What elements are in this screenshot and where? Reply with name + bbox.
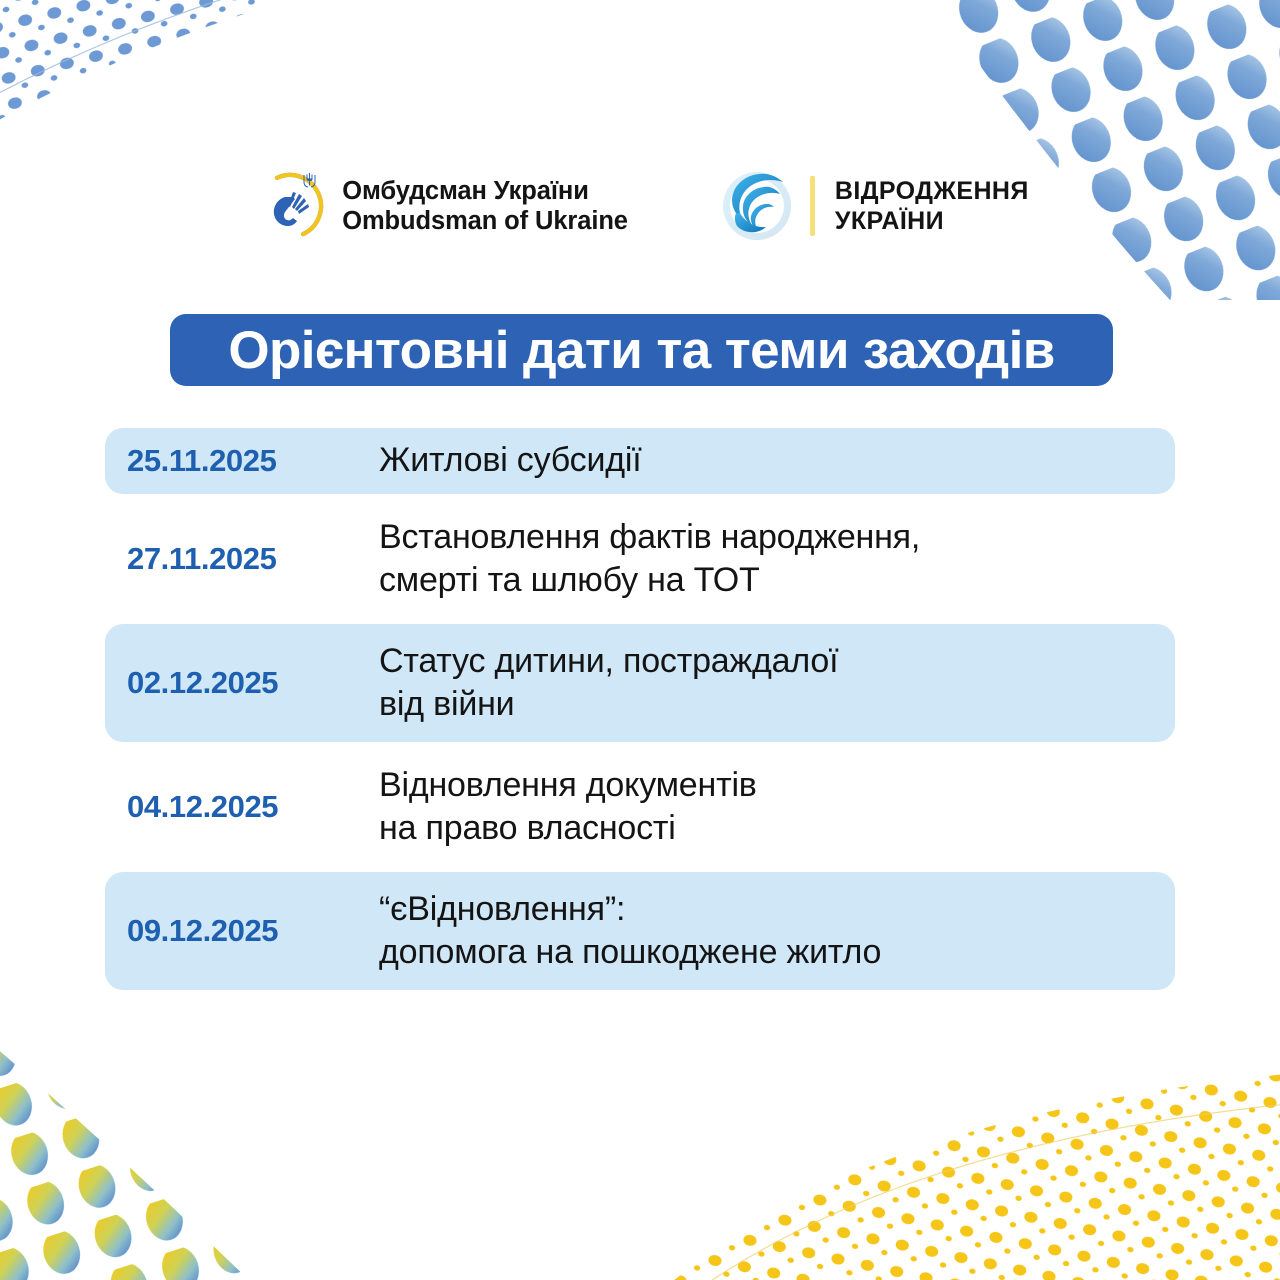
logo-bar: Омбудсман України Ombudsman of Ukraine: [0, 163, 1280, 249]
event-date: 25.11.2025: [127, 443, 379, 479]
decorative-dots-bottom-left: [0, 960, 320, 1280]
event-topic-line: смерті та шлюбу на ТОТ: [379, 559, 1175, 602]
ombudsman-name-uk: Омбудсман України: [342, 176, 628, 206]
event-row: 02.12.2025Статус дитини, постраждалоївід…: [105, 624, 1175, 742]
vidrodzhennya-line2: УКРАЇНИ: [835, 206, 1029, 237]
infographic-page: Омбудсман України Ombudsman of Ukraine: [0, 0, 1280, 1280]
logo-divider: [810, 176, 815, 236]
decorative-dots-top-right: [840, 0, 1280, 300]
page-title: Орієнтовні дати та теми заходів: [228, 320, 1054, 381]
event-row: 04.12.2025Відновлення документівна право…: [105, 748, 1175, 866]
event-topic-line: на право власності: [379, 807, 1175, 850]
event-topic: Статус дитини, постраждалоївід війни: [379, 640, 1175, 726]
schedule-list: 25.11.2025Житлові субсидії27.11.2025Вста…: [105, 428, 1175, 996]
event-topic-line: Відновлення документів: [379, 764, 1175, 807]
event-topic: Відновлення документівна право власності: [379, 764, 1175, 850]
event-topic: Встановлення фактів народження,смерті та…: [379, 516, 1175, 602]
ombudsman-emblem-icon: [251, 167, 329, 245]
event-row: 09.12.2025“єВідновлення”:допомога на пош…: [105, 872, 1175, 990]
ombudsman-name-en: Ombudsman of Ukraine: [342, 206, 628, 236]
event-topic-line: “єВідновлення”:: [379, 888, 1175, 931]
event-date: 04.12.2025: [127, 789, 379, 825]
event-date: 27.11.2025: [127, 541, 379, 577]
phoenix-bird-icon: [720, 169, 794, 243]
event-topic-line: Статус дитини, постраждалої: [379, 640, 1175, 683]
event-topic-line: допомога на пошкоджене житло: [379, 931, 1175, 974]
vidrodzhennya-logo: ВІДРОДЖЕННЯ УКРАЇНИ: [720, 169, 1029, 243]
event-topic: Житлові субсидії: [379, 439, 1175, 482]
event-row: 27.11.2025Встановлення фактів народження…: [105, 500, 1175, 618]
event-topic-line: Житлові субсидії: [379, 439, 1175, 482]
decorative-wave-bottom-right: [630, 1040, 1280, 1280]
vidrodzhennya-line1: ВІДРОДЖЕННЯ: [835, 176, 1029, 207]
event-topic-line: від війни: [379, 683, 1175, 726]
page-title-banner: Орієнтовні дати та теми заходів: [170, 314, 1113, 386]
event-topic: “єВідновлення”:допомога на пошкоджене жи…: [379, 888, 1175, 974]
event-topic-line: Встановлення фактів народження,: [379, 516, 1175, 559]
event-date: 02.12.2025: [127, 665, 379, 701]
event-row: 25.11.2025Житлові субсидії: [105, 428, 1175, 494]
event-date: 09.12.2025: [127, 913, 379, 949]
ombudsman-logo: Омбудсман України Ombudsman of Ukraine: [251, 167, 628, 245]
